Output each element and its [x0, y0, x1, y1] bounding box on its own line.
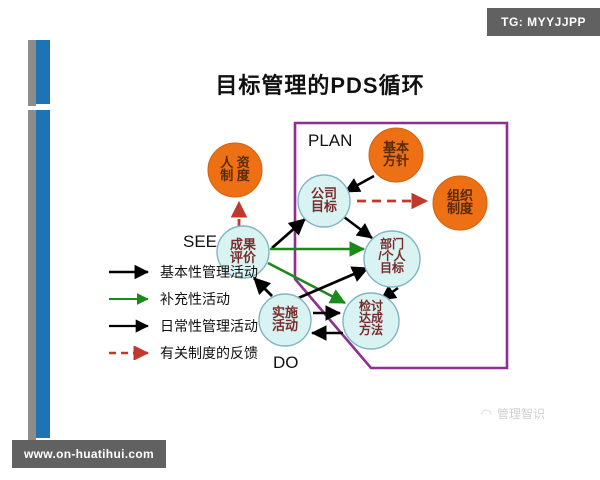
legend-line-daily [108, 319, 156, 333]
node-renzi-zhidu[interactable] [208, 143, 262, 197]
legend-line-feedback [108, 346, 156, 360]
legend-label-daily: 日常性管理活动 [160, 316, 258, 336]
legend-label-supplementary: 补充性活动 [160, 289, 230, 309]
node-jiben-fangzhen[interactable] [369, 128, 423, 182]
legend-item-daily: 日常性管理活动 [108, 312, 258, 339]
wechat-watermark: ◠ 管理智识 [481, 405, 545, 422]
arrow-gongsi-to-bumen [344, 217, 372, 238]
node-shishi-huodong[interactable] [259, 294, 311, 346]
slide-canvas: 目标管理的PDS循环 [0, 0, 600, 480]
arrow-chengguo-to-gongsi [272, 219, 305, 248]
node-zuzhi-zhidu[interactable] [433, 176, 487, 230]
legend-item-feedback: 有关制度的反馈 [108, 339, 258, 366]
legend: 基本性管理活动 补充性活动 日常性管理活动 有关制度的反馈 [108, 258, 258, 366]
legend-line-supplementary [108, 292, 156, 306]
phase-label-do: DO [273, 353, 299, 373]
wechat-logo-icon: ◠ [481, 406, 492, 422]
legend-item-supplementary: 补充性活动 [108, 285, 258, 312]
wechat-watermark-label: 管理智识 [497, 405, 545, 422]
arrow-jiben-to-gongsi [345, 176, 374, 192]
node-gongsi-mubiao[interactable] [298, 175, 350, 227]
phase-label-plan: PLAN [308, 131, 352, 151]
legend-label-basic: 基本性管理活动 [160, 262, 258, 282]
phase-label-see: SEE [183, 232, 217, 252]
node-bumen-geren-mubiao[interactable] [364, 231, 420, 287]
tg-watermark-tag: TG: MYYJJPP [487, 8, 600, 36]
node-jiantao-dacheng-fangfa[interactable] [343, 293, 399, 349]
legend-item-basic: 基本性管理活动 [108, 258, 258, 285]
legend-line-basic [108, 265, 156, 279]
legend-label-feedback: 有关制度的反馈 [160, 343, 258, 363]
site-watermark-tag: www.on-huatihui.com [12, 440, 166, 468]
